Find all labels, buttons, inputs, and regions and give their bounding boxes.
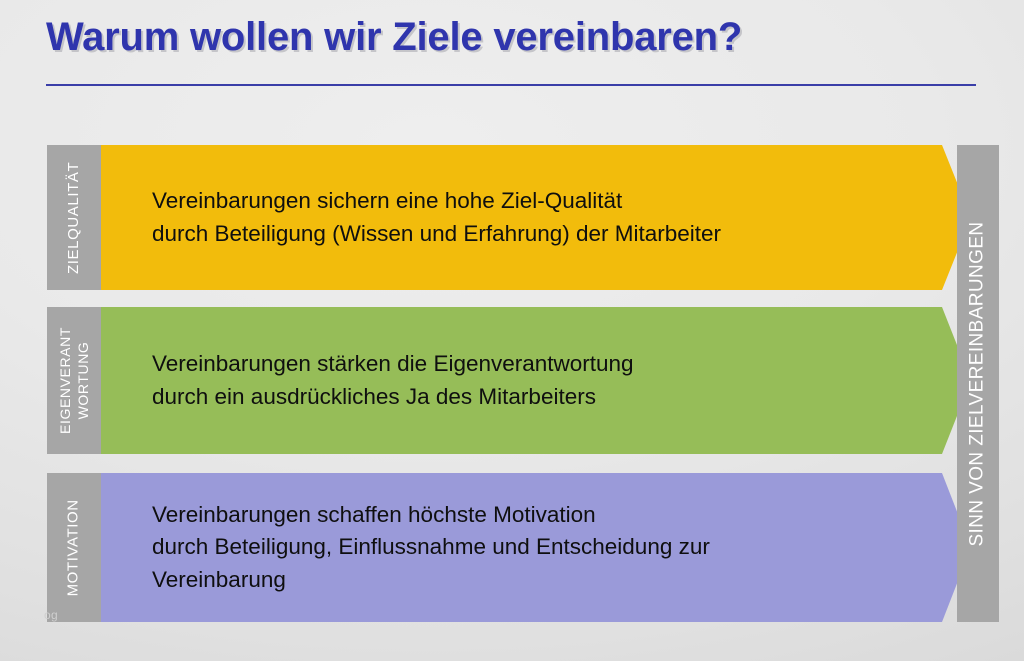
arrow-body-text: Vereinbarungen stärken die Eigenverantwo… [101,348,674,413]
category-tab-eigenverantwortung: EIGENVERANT WORTUNG [47,307,101,454]
category-tab-label: EIGENVERANT WORTUNG [57,327,92,434]
arrow-body-text: Vereinbarungen schaffen höchste Motivati… [101,499,750,597]
arrow-list: ZIELQUALITÄT Vereinbarungen sichern eine… [0,0,1024,661]
arrow-shape-yellow: Vereinbarungen sichern eine hohe Ziel-Qu… [101,145,971,290]
category-tab-label: ZIELQUALITÄT [66,161,82,273]
category-tab-motivation: MOTIVATION [47,473,101,622]
arrow-row-zielqualitaet[interactable]: ZIELQUALITÄT Vereinbarungen sichern eine… [47,145,971,290]
arrow-shape-green: Vereinbarungen stärken die Eigenverantwo… [101,307,971,454]
arrow-shape-purple: Vereinbarungen schaffen höchste Motivati… [101,473,971,622]
arrow-body-text: Vereinbarungen sichern eine hohe Ziel-Qu… [101,185,761,250]
slide-canvas: Warum wollen wir Ziele vereinbaren? ZIEL… [0,0,1024,661]
category-tab-zielqualitaet: ZIELQUALITÄT [47,145,101,290]
arrow-row-eigenverantwortung[interactable]: EIGENVERANT WORTUNG Vereinbarungen stärk… [47,307,971,454]
side-bar-label: SINN VON ZIELVEREINBARUNGEN [967,221,989,546]
category-tab-label: MOTIVATION [66,499,82,596]
side-bar-sinn-von-zielvereinbarungen: SINN VON ZIELVEREINBARUNGEN [957,145,999,622]
arrow-row-motivation[interactable]: MOTIVATION Vereinbarungen schaffen höchs… [47,473,971,622]
